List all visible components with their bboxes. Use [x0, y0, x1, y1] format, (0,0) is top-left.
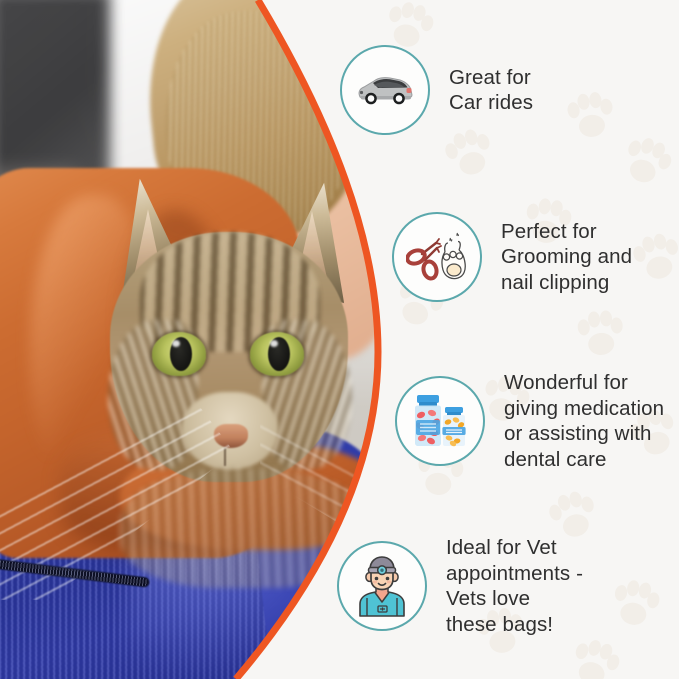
feature-label: Wonderful for giving medication or assis… — [504, 370, 664, 472]
feature-icon-circle — [395, 376, 485, 466]
feature-item-grooming: Perfect for Grooming and nail clipping — [392, 212, 632, 302]
veterinarian-icon — [350, 554, 414, 618]
cat-eye-glint-left — [172, 340, 180, 347]
feature-item-medication: Wonderful for giving medication or assis… — [395, 370, 664, 472]
nail-clipper-paw-icon — [406, 230, 468, 284]
medicine-bottles-icon — [407, 391, 473, 451]
feature-icon-circle — [392, 212, 482, 302]
feature-item-vet: Ideal for Vet appointments - Vets love t… — [337, 535, 583, 637]
feature-label: Ideal for Vet appointments - Vets love t… — [446, 535, 583, 637]
feature-icon-circle — [337, 541, 427, 631]
cat-eye-glint-right — [270, 340, 278, 347]
infographic-container: Great for Car rides — [0, 0, 679, 679]
feature-label: Great for Car rides — [449, 65, 533, 116]
car-icon — [354, 73, 416, 107]
features-panel: Great for Car rides — [300, 0, 679, 679]
feature-item-car-rides: Great for Car rides — [340, 45, 533, 135]
feature-icon-circle — [340, 45, 430, 135]
feature-label: Perfect for Grooming and nail clipping — [501, 219, 632, 296]
